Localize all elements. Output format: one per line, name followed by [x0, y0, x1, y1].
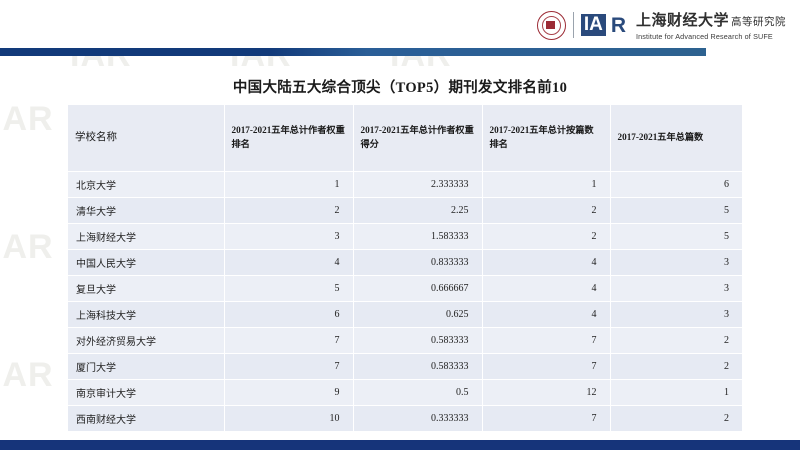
cell-weight-rank: 6: [224, 301, 353, 327]
cell-total-papers: 3: [610, 301, 742, 327]
cell-weight-rank: 3: [224, 223, 353, 249]
cell-weight-score: 0.583333: [353, 327, 482, 353]
table-row: 复旦大学50.66666743: [68, 275, 742, 301]
cell-total-papers: 6: [610, 171, 742, 197]
brand-text-block: 上海财经大学 高等研究院 Institute for Advanced Rese…: [636, 9, 786, 41]
table-body: 北京大学12.33333316清华大学22.2525上海财经大学31.58333…: [68, 171, 742, 431]
logo-divider: [573, 12, 574, 38]
cell-total-papers: 3: [610, 249, 742, 275]
brand-chinese-sub: 高等研究院: [731, 14, 786, 29]
table-row: 上海财经大学31.58333325: [68, 223, 742, 249]
cell-count-rank: 7: [482, 327, 610, 353]
cell-count-rank: 4: [482, 249, 610, 275]
cell-count-rank: 7: [482, 353, 610, 379]
table-row: 对外经济贸易大学70.58333372: [68, 327, 742, 353]
table-row: 上海科技大学60.62543: [68, 301, 742, 327]
university-seal-icon: [537, 11, 566, 40]
cell-school: 上海财经大学: [68, 223, 224, 249]
brand-logo: IA R 上海财经大学 高等研究院 Institute for Advanced…: [537, 9, 786, 41]
cell-weight-rank: 5: [224, 275, 353, 301]
column-header-weight-rank: 2017-2021五年总计作者权重排名: [224, 105, 353, 171]
brand-english-name: Institute for Advanced Research of SUFE: [636, 32, 786, 41]
ranking-table: 学校名称 2017-2021五年总计作者权重排名 2017-2021五年总计作者…: [68, 105, 742, 431]
cell-total-papers: 3: [610, 275, 742, 301]
column-header-weight-score: 2017-2021五年总计作者权重得分: [353, 105, 482, 171]
table-row: 南京审计大学90.5121: [68, 379, 742, 405]
cell-school: 复旦大学: [68, 275, 224, 301]
cell-weight-score: 2.25: [353, 197, 482, 223]
table-row: 北京大学12.33333316: [68, 171, 742, 197]
cell-weight-score: 0.666667: [353, 275, 482, 301]
cell-school: 南京审计大学: [68, 379, 224, 405]
cell-school: 清华大学: [68, 197, 224, 223]
brand-chinese-main: 上海财经大学: [636, 9, 729, 30]
watermark-iar: IAR: [0, 228, 54, 267]
iar-logo-r: R: [611, 15, 626, 36]
brand-chinese-name: 上海财经大学 高等研究院: [636, 9, 786, 30]
column-header-total-papers: 2017-2021五年总篇数: [610, 105, 742, 171]
column-header-count-rank: 2017-2021五年总计按篇数排名: [482, 105, 610, 171]
cell-total-papers: 1: [610, 379, 742, 405]
cell-count-rank: 1: [482, 171, 610, 197]
cell-total-papers: 5: [610, 197, 742, 223]
watermark-iar: IAR: [0, 100, 54, 139]
cell-weight-rank: 10: [224, 405, 353, 431]
cell-weight-score: 0.625: [353, 301, 482, 327]
header-accent-bar: [0, 48, 706, 56]
cell-count-rank: 7: [482, 405, 610, 431]
cell-count-rank: 4: [482, 301, 610, 327]
table-row: 中国人民大学40.83333343: [68, 249, 742, 275]
cell-weight-rank: 7: [224, 327, 353, 353]
cell-weight-rank: 9: [224, 379, 353, 405]
cell-school: 厦门大学: [68, 353, 224, 379]
cell-weight-score: 2.333333: [353, 171, 482, 197]
table-header-row: 学校名称 2017-2021五年总计作者权重排名 2017-2021五年总计作者…: [68, 105, 742, 171]
iar-logo-mark: IA: [581, 14, 606, 36]
cell-school: 西南财经大学: [68, 405, 224, 431]
slide-header: IA R 上海财经大学 高等研究院 Institute for Advanced…: [0, 0, 800, 48]
table-row: 厦门大学70.58333372: [68, 353, 742, 379]
cell-weight-rank: 2: [224, 197, 353, 223]
cell-weight-rank: 7: [224, 353, 353, 379]
cell-school: 对外经济贸易大学: [68, 327, 224, 353]
table-row: 西南财经大学100.33333372: [68, 405, 742, 431]
cell-school: 北京大学: [68, 171, 224, 197]
watermark-iar: IAR: [0, 356, 54, 395]
cell-count-rank: 2: [482, 223, 610, 249]
cell-school: 上海科技大学: [68, 301, 224, 327]
cell-weight-score: 0.333333: [353, 405, 482, 431]
cell-school: 中国人民大学: [68, 249, 224, 275]
footer-accent-bar: [0, 440, 800, 450]
cell-count-rank: 2: [482, 197, 610, 223]
cell-count-rank: 12: [482, 379, 610, 405]
cell-total-papers: 2: [610, 353, 742, 379]
cell-weight-score: 0.833333: [353, 249, 482, 275]
cell-weight-score: 0.5: [353, 379, 482, 405]
cell-total-papers: 2: [610, 405, 742, 431]
cell-weight-rank: 4: [224, 249, 353, 275]
cell-weight-score: 0.583333: [353, 353, 482, 379]
cell-total-papers: 2: [610, 327, 742, 353]
page-title: 中国大陆五大综合顶尖（TOP5）期刊发文排名前10: [0, 76, 800, 97]
cell-total-papers: 5: [610, 223, 742, 249]
cell-count-rank: 4: [482, 275, 610, 301]
table-row: 清华大学22.2525: [68, 197, 742, 223]
cell-weight-rank: 1: [224, 171, 353, 197]
column-header-school: 学校名称: [68, 105, 224, 171]
cell-weight-score: 1.583333: [353, 223, 482, 249]
data-table-container: 学校名称 2017-2021五年总计作者权重排名 2017-2021五年总计作者…: [68, 105, 742, 431]
